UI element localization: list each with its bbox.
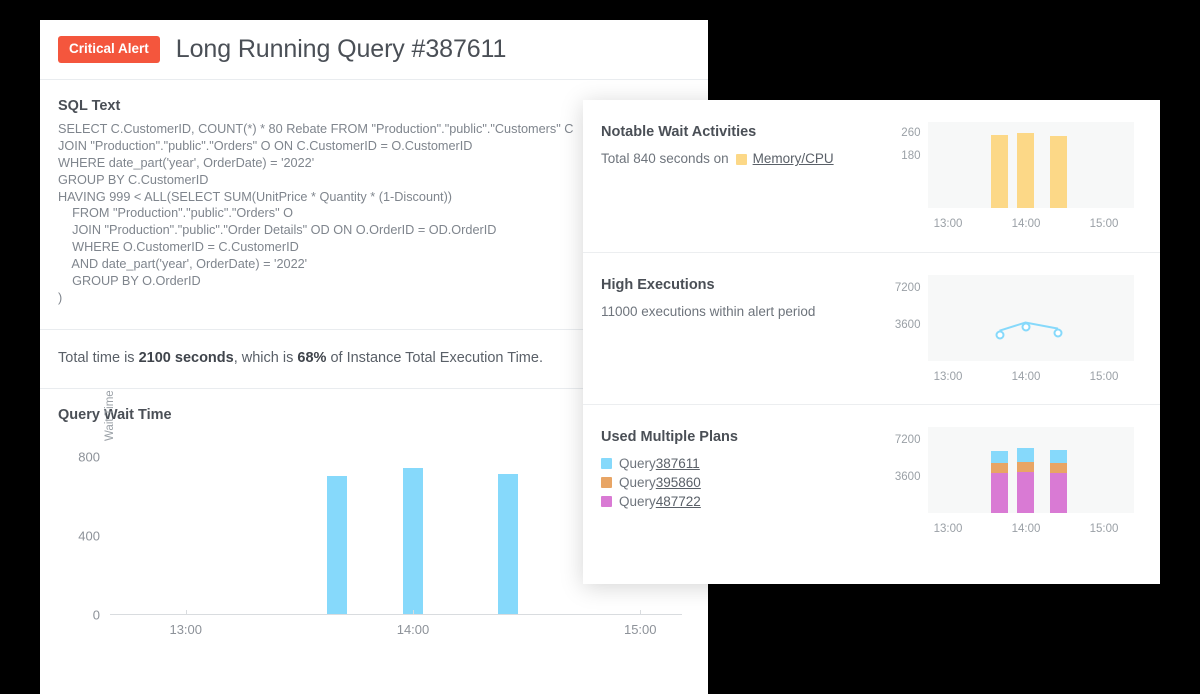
summary-middle: , which is — [234, 350, 298, 366]
panel-header: Critical Alert Long Running Query #38761… — [40, 20, 708, 80]
plans-x-tick: 13:00 — [934, 523, 963, 535]
plans-legend-prefix: Query — [619, 492, 656, 511]
plans-stack-segment[interactable] — [1050, 450, 1067, 463]
exec-data-point[interactable] — [995, 331, 1004, 340]
status-badge: Critical Alert — [58, 36, 160, 63]
plans-legend-swatch — [601, 496, 612, 507]
high-executions-info: High Executions 11000 executions within … — [601, 275, 868, 322]
query-wait-time-y-tick: 400 — [78, 528, 100, 543]
notable-wait-activities-title: Notable Wait Activities — [601, 124, 868, 140]
plans-stack-segment[interactable] — [1050, 463, 1067, 472]
query-wait-time-bar[interactable] — [403, 468, 423, 614]
plans-x-tick: 15:00 — [1090, 523, 1119, 535]
summary-prefix: Total time is — [58, 350, 139, 366]
plans-legend-query-link[interactable]: 387611 — [656, 454, 700, 473]
wait-x-tick: 14:00 — [1012, 218, 1041, 230]
plans-stack-segment[interactable] — [991, 473, 1008, 513]
plans-legend-swatch — [601, 458, 612, 469]
wait-bar[interactable] — [991, 135, 1008, 208]
query-wait-time-y-tick: 0 — [93, 607, 100, 622]
page-title: Long Running Query #387611 — [176, 35, 507, 64]
used-multiple-plans-card: Used Multiple Plans Query 387611Query 39… — [583, 404, 1160, 556]
notable-wait-activities-subtitle: Total 840 seconds on Memory/CPU — [601, 149, 868, 169]
summary-percent: 68% — [297, 350, 326, 366]
plans-stack-segment[interactable] — [1017, 462, 1034, 472]
wait-y-tick: 180 — [868, 150, 920, 162]
high-executions-card: High Executions 11000 executions within … — [583, 252, 1160, 404]
wait-y-tick: 260 — [868, 127, 920, 139]
used-multiple-plans-chart: 3600720013:0014:0015:00 — [868, 427, 1134, 535]
summary-total-time: 2100 seconds — [139, 350, 234, 366]
memory-cpu-link[interactable]: Memory/CPU — [753, 149, 834, 169]
query-wait-time-bar[interactable] — [327, 476, 347, 614]
query-wait-time-y-tick: 800 — [78, 449, 100, 464]
exec-plot-area — [928, 275, 1134, 361]
query-wait-time-x-tickmark — [186, 610, 187, 615]
query-wait-time-y-axis-label: Wait Time — [104, 390, 116, 441]
query-wait-time-bar[interactable] — [498, 474, 518, 614]
plans-stack-segment[interactable] — [991, 451, 1008, 464]
high-executions-title: High Executions — [601, 277, 868, 293]
plans-stack-segment[interactable] — [1017, 472, 1034, 513]
query-wait-time-x-tick: 13:00 — [169, 622, 202, 637]
plans-legend-item: Query 487722 — [601, 492, 868, 511]
exec-data-point[interactable] — [1054, 329, 1063, 338]
insights-panel: Notable Wait Activities Total 840 second… — [583, 100, 1160, 584]
plans-y-tick: 7200 — [868, 434, 920, 446]
plans-legend-swatch — [601, 477, 612, 488]
notable-wait-activities-chart: 18026013:0014:0015:00 — [868, 122, 1134, 230]
exec-x-tick: 14:00 — [1012, 371, 1041, 383]
query-wait-time-x-tickmark — [413, 610, 414, 615]
plans-stack-segment[interactable] — [991, 463, 1008, 472]
notable-wait-activities-info: Notable Wait Activities Total 840 second… — [601, 122, 868, 169]
wait-bar[interactable] — [1050, 136, 1067, 208]
exec-x-tick: 15:00 — [1090, 371, 1119, 383]
exec-line — [928, 275, 1136, 361]
wait-x-tick: 15:00 — [1090, 218, 1119, 230]
exec-x-tick: 13:00 — [934, 371, 963, 383]
plans-legend-item: Query 387611 — [601, 454, 868, 473]
plans-legend-prefix: Query — [619, 473, 656, 492]
query-wait-time-x-tickmark — [640, 610, 641, 615]
wait-plot-area — [928, 122, 1134, 208]
plans-legend-query-link[interactable]: 487722 — [656, 492, 701, 511]
exec-y-tick: 7200 — [868, 282, 920, 294]
screenshot-root: Critical Alert Long Running Query #38761… — [0, 0, 1200, 694]
exec-y-tick: 3600 — [868, 319, 920, 331]
query-wait-time-x-tick: 15:00 — [624, 622, 657, 637]
wait-bar[interactable] — [1017, 133, 1034, 208]
wait-x-tick: 13:00 — [934, 218, 963, 230]
query-wait-time-x-axis-line — [110, 614, 682, 615]
memory-cpu-swatch — [736, 154, 747, 165]
summary-suffix: of Instance Total Execution Time. — [326, 350, 543, 366]
query-wait-time-x-tick: 14:00 — [397, 622, 430, 637]
plans-legend-query-link[interactable]: 395860 — [656, 473, 701, 492]
plans-legend-prefix: Query — [619, 454, 656, 473]
plans-x-tick: 14:00 — [1012, 523, 1041, 535]
used-multiple-plans-info: Used Multiple Plans Query 387611Query 39… — [601, 427, 868, 511]
plans-stack-segment[interactable] — [1017, 448, 1034, 463]
high-executions-chart: 3600720013:0014:0015:00 — [868, 275, 1134, 383]
used-multiple-plans-legend: Query 387611Query 395860Query 487722 — [601, 454, 868, 511]
high-executions-subtitle: 11000 executions within alert period — [601, 302, 868, 322]
used-multiple-plans-title: Used Multiple Plans — [601, 429, 868, 445]
notable-wait-activities-card: Notable Wait Activities Total 840 second… — [583, 100, 1160, 252]
wait-total-text: Total 840 seconds on — [601, 149, 729, 169]
plans-plot-area — [928, 427, 1134, 513]
plans-y-tick: 3600 — [868, 471, 920, 483]
plans-legend-item: Query 395860 — [601, 473, 868, 492]
exec-data-point[interactable] — [1021, 323, 1030, 332]
plans-stack-segment[interactable] — [1050, 473, 1067, 513]
